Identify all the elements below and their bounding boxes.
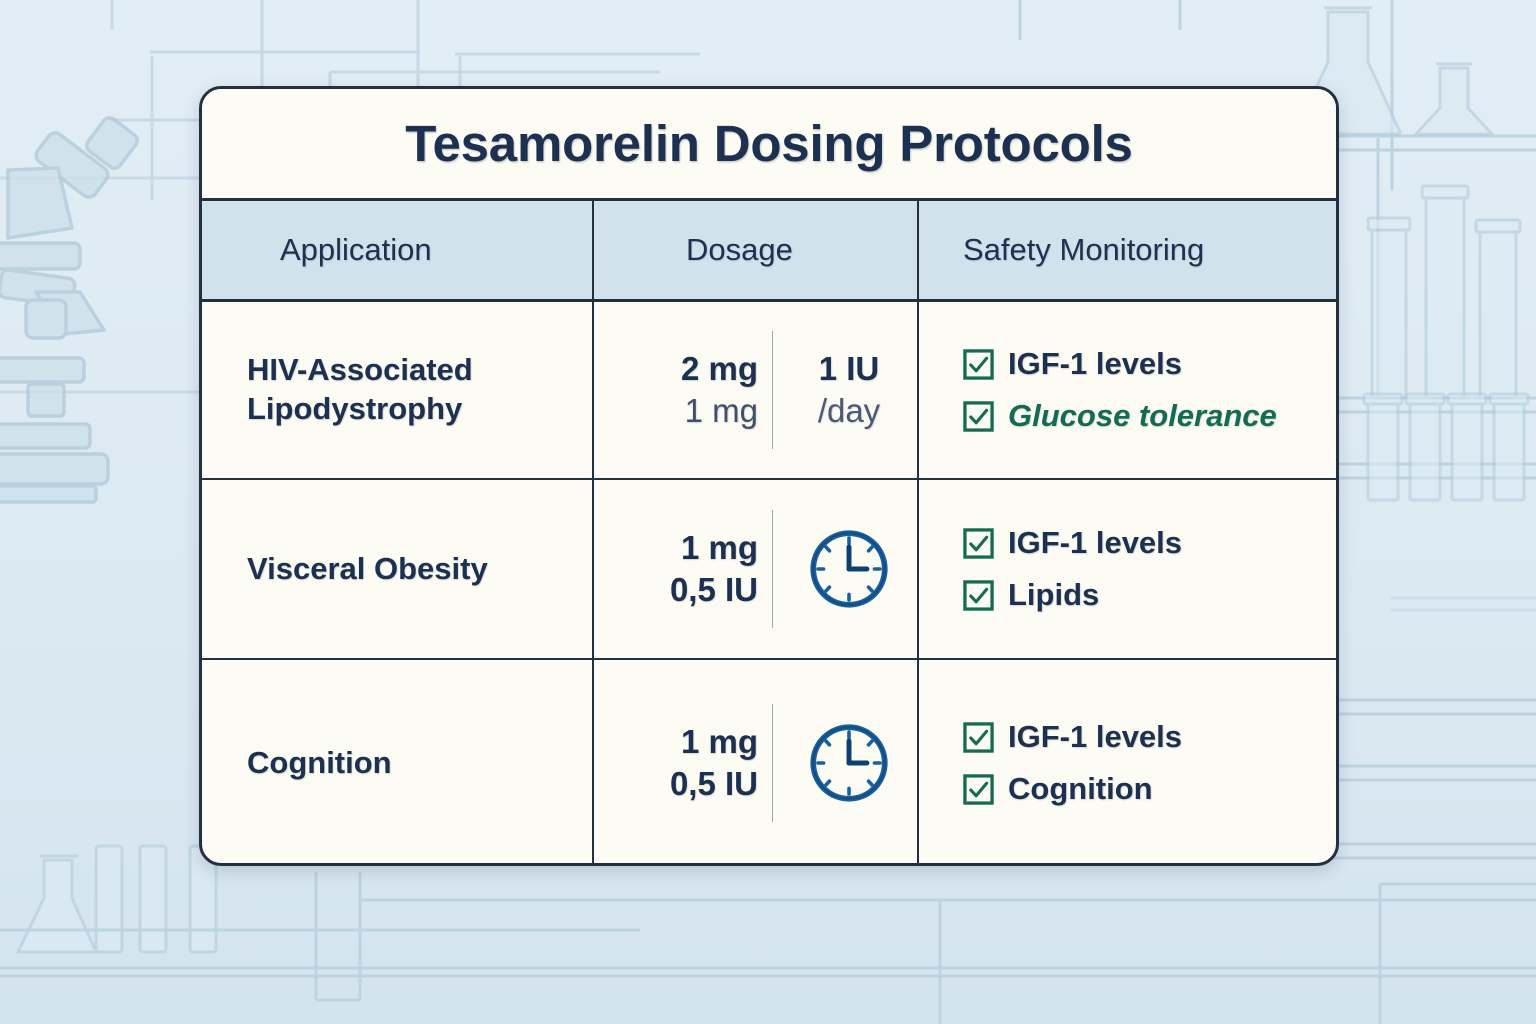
checked-checkbox-icon	[963, 580, 994, 611]
safety-item-label: IGF-1 levels	[1008, 719, 1182, 755]
checked-checkbox-icon	[963, 722, 994, 753]
cell-dosage: 1 mg 0,5 IU	[594, 660, 919, 866]
list-item: Lipids	[963, 577, 1182, 613]
dosage-units: 1 IU /day	[775, 348, 917, 432]
safety-item-label: Glucose tolerance	[1008, 398, 1277, 434]
screenshot-stage: Tesamorelin Dosing Protocols Application…	[0, 0, 1536, 1024]
table-row: Cognition 1 mg 0,5 IU	[202, 660, 1336, 866]
page-title: Tesamorelin Dosing Protocols	[405, 114, 1132, 173]
dosage-primary-amount: 2 mg	[681, 348, 758, 390]
column-header-application-label: Application	[202, 232, 432, 268]
checked-checkbox-icon	[963, 528, 994, 559]
cell-application: Cognition	[202, 660, 594, 866]
dosage-unit-primary: 1 IU	[819, 348, 880, 390]
cell-application: HIV-Associated Lipodystrophy	[202, 302, 594, 478]
list-item: Cognition	[963, 771, 1182, 807]
table-row: HIV-Associated Lipodystrophy 2 mg 1 mg 1…	[202, 302, 1336, 480]
safety-monitoring-list: IGF-1 levels Glucose tolerance	[919, 346, 1277, 434]
list-item: IGF-1 levels	[963, 346, 1277, 382]
dosing-protocol-table-card: Tesamorelin Dosing Protocols Application…	[199, 86, 1339, 866]
safety-item-label: Lipids	[1008, 577, 1099, 613]
safety-monitoring-list: IGF-1 levels Lipids	[919, 525, 1182, 613]
dosage-secondary-amount: 1 mg	[685, 390, 758, 432]
dosage-primary-amount: 1 mg	[681, 721, 758, 763]
application-name-line2: Lipodystrophy	[247, 390, 473, 429]
cell-safety-monitoring: IGF-1 levels Lipids	[919, 480, 1336, 658]
checked-checkbox-icon	[963, 349, 994, 380]
safety-monitoring-list: IGF-1 levels Cognition	[919, 719, 1182, 807]
dosage-primary-amount: 1 mg	[681, 527, 758, 569]
checked-checkbox-icon	[963, 774, 994, 805]
clock-icon	[805, 525, 893, 613]
cell-application: Visceral Obesity	[202, 480, 594, 658]
safety-item-label: Cognition	[1008, 771, 1153, 807]
dosage-inner-divider	[772, 331, 773, 449]
cell-dosage: 2 mg 1 mg 1 IU /day	[594, 302, 919, 478]
list-item: Glucose tolerance	[963, 398, 1277, 434]
dosage-amounts: 1 mg 0,5 IU	[594, 721, 772, 805]
dosage-unit-secondary: /day	[818, 390, 880, 432]
application-name-line1: Visceral Obesity	[247, 550, 488, 589]
application-name-line1: HIV-Associated	[247, 351, 473, 390]
dosage-units	[775, 719, 917, 807]
application-name-line1: Cognition	[247, 744, 392, 783]
table-row: Visceral Obesity 1 mg 0,5 IU	[202, 480, 1336, 660]
cell-safety-monitoring: IGF-1 levels Cognition	[919, 660, 1336, 866]
cell-dosage: 1 mg 0,5 IU	[594, 480, 919, 658]
safety-item-label: IGF-1 levels	[1008, 525, 1182, 561]
dosage-secondary-amount: 0,5 IU	[670, 569, 758, 611]
list-item: IGF-1 levels	[963, 525, 1182, 561]
cell-safety-monitoring: IGF-1 levels Glucose tolerance	[919, 302, 1336, 478]
column-header-dosage-label: Dosage	[594, 232, 793, 268]
card-title-band: Tesamorelin Dosing Protocols	[202, 89, 1336, 201]
dosage-units	[775, 525, 917, 613]
list-item: IGF-1 levels	[963, 719, 1182, 755]
table-header-row: Application Dosage Safety Monitoring	[202, 201, 1336, 302]
dosage-amounts: 2 mg 1 mg	[594, 348, 772, 432]
checked-checkbox-icon	[963, 401, 994, 432]
application-name: HIV-Associated Lipodystrophy	[202, 351, 473, 429]
column-header-application: Application	[202, 201, 594, 299]
dosage-inner-divider	[772, 510, 773, 628]
application-name: Visceral Obesity	[202, 550, 488, 589]
column-header-dosage: Dosage	[594, 201, 919, 299]
application-name: Cognition	[202, 744, 392, 783]
safety-item-label: IGF-1 levels	[1008, 346, 1182, 382]
column-header-safety-label: Safety Monitoring	[919, 232, 1204, 268]
column-header-safety: Safety Monitoring	[919, 201, 1336, 299]
dosage-inner-divider	[772, 704, 773, 822]
dosage-amounts: 1 mg 0,5 IU	[594, 527, 772, 611]
dosage-secondary-amount: 0,5 IU	[670, 763, 758, 805]
clock-icon	[805, 719, 893, 807]
